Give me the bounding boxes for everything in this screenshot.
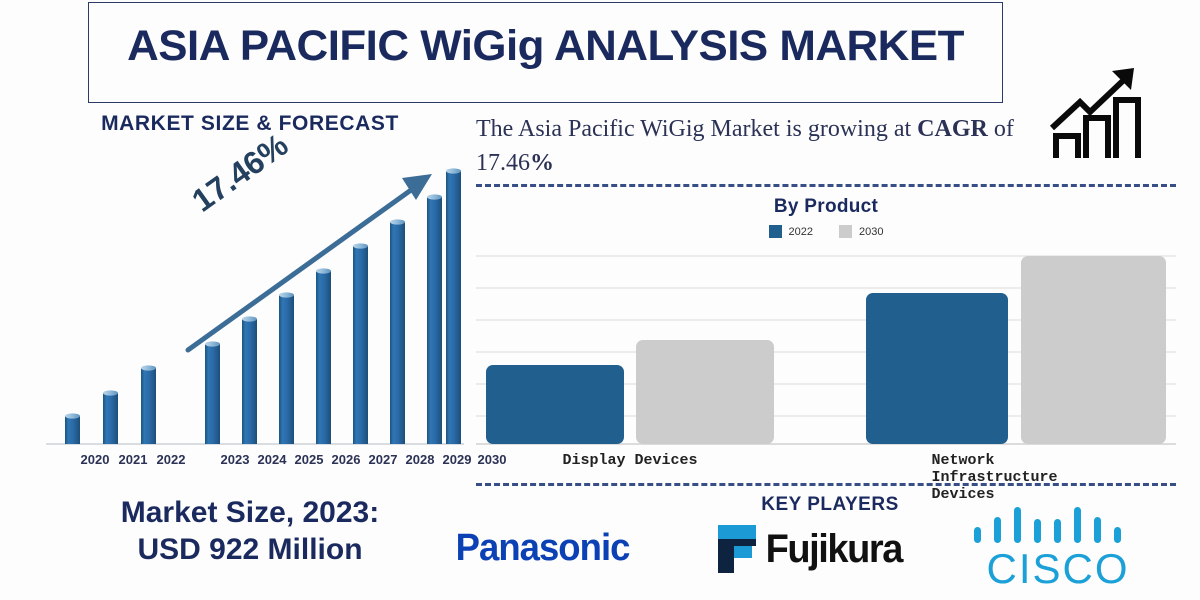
bar-network-2022 (866, 293, 1008, 444)
x-label-2025: 2025 (295, 452, 324, 467)
bar-network-2030 (1021, 256, 1166, 444)
logo-fujikura: Fujikura (766, 527, 902, 572)
x-label-2023: 2023 (221, 452, 250, 467)
x-label-2020: 2020 (81, 452, 110, 467)
divider-bottom (476, 483, 1176, 486)
bar-2027 (353, 243, 368, 444)
market-size-forecast-heading: MARKET SIZE & FORECAST (40, 112, 460, 136)
bar-2021 (103, 390, 118, 444)
legend-item-2022[interactable]: 2022 (769, 225, 813, 238)
forecast-bars (65, 168, 461, 444)
market-size-forecast-chart (40, 155, 470, 465)
logo-panasonic: Panasonic (456, 527, 630, 570)
x-label-2026: 2026 (332, 452, 361, 467)
bar-2020 (65, 413, 80, 444)
bar-2028 (390, 219, 405, 444)
cisco-bars-icon (958, 505, 1158, 549)
growth-bar-arrow-icon (1042, 58, 1152, 168)
x-label-display-devices: Display Devices (562, 452, 697, 469)
forecast-bar-svg (40, 155, 470, 465)
logo-cisco: CISCO (958, 549, 1158, 589)
bar-display-2022 (486, 365, 624, 444)
forecast-x-axis-labels: 2020 2021 2022 2023 2024 2025 2026 2027 … (40, 452, 470, 470)
cagr-sentence-part-1: The Asia Pacific WiGig Market is growing… (476, 116, 917, 142)
market-size-callout: Market Size, 2023: USD 922 Million (30, 495, 470, 568)
fujikura-f-mark-icon (712, 523, 760, 575)
bar-2030 (446, 168, 461, 444)
by-product-chart (476, 248, 1176, 480)
x-label-2029: 2029 (443, 452, 472, 467)
logo-fujikura-group: Fujikura (712, 523, 906, 575)
key-players-title: KEY PLAYERS (650, 494, 1010, 516)
logo-cisco-group: CISCO (958, 505, 1158, 589)
bar-2025 (279, 292, 294, 444)
cagr-sentence-bold-cagr: CAGR (917, 116, 988, 142)
by-product-title: By Product (476, 196, 1176, 218)
page-title: ASIA PACIFIC WiGig ANALYSIS MARKET (79, 22, 1012, 71)
legend-item-2030[interactable]: 2030 (839, 225, 883, 238)
x-label-2022: 2022 (157, 452, 186, 467)
infographic-root: ASIA PACIFIC WiGig ANALYSIS MARKET MARKE… (0, 0, 1200, 600)
legend-swatch-2022 (769, 225, 782, 238)
by-product-x-axis-labels: Display Devices Network Infrastructure D… (476, 452, 1176, 472)
x-label-2027: 2027 (369, 452, 398, 467)
bar-2022 (141, 365, 156, 444)
cagr-sentence-bold-percent: % (530, 150, 554, 176)
bar-2029 (427, 194, 442, 444)
legend-label-2022: 2022 (789, 226, 813, 238)
cagr-sentence: The Asia Pacific WiGig Market is growing… (476, 112, 1036, 180)
legend-label-2030: 2030 (859, 226, 883, 238)
bar-2026 (316, 268, 331, 444)
x-label-2021: 2021 (119, 452, 148, 467)
x-label-2024: 2024 (258, 452, 287, 467)
x-label-2028: 2028 (406, 452, 435, 467)
by-product-legend: 2022 2030 (476, 225, 1176, 238)
bar-display-2030 (636, 340, 774, 444)
bar-2023 (205, 341, 220, 444)
by-product-bar-svg (476, 248, 1176, 480)
market-size-line-1: Market Size, 2023: (30, 495, 470, 532)
market-size-line-2: USD 922 Million (30, 532, 470, 569)
divider-top (476, 184, 1176, 187)
bar-2024 (242, 316, 257, 444)
legend-swatch-2030 (839, 225, 852, 238)
